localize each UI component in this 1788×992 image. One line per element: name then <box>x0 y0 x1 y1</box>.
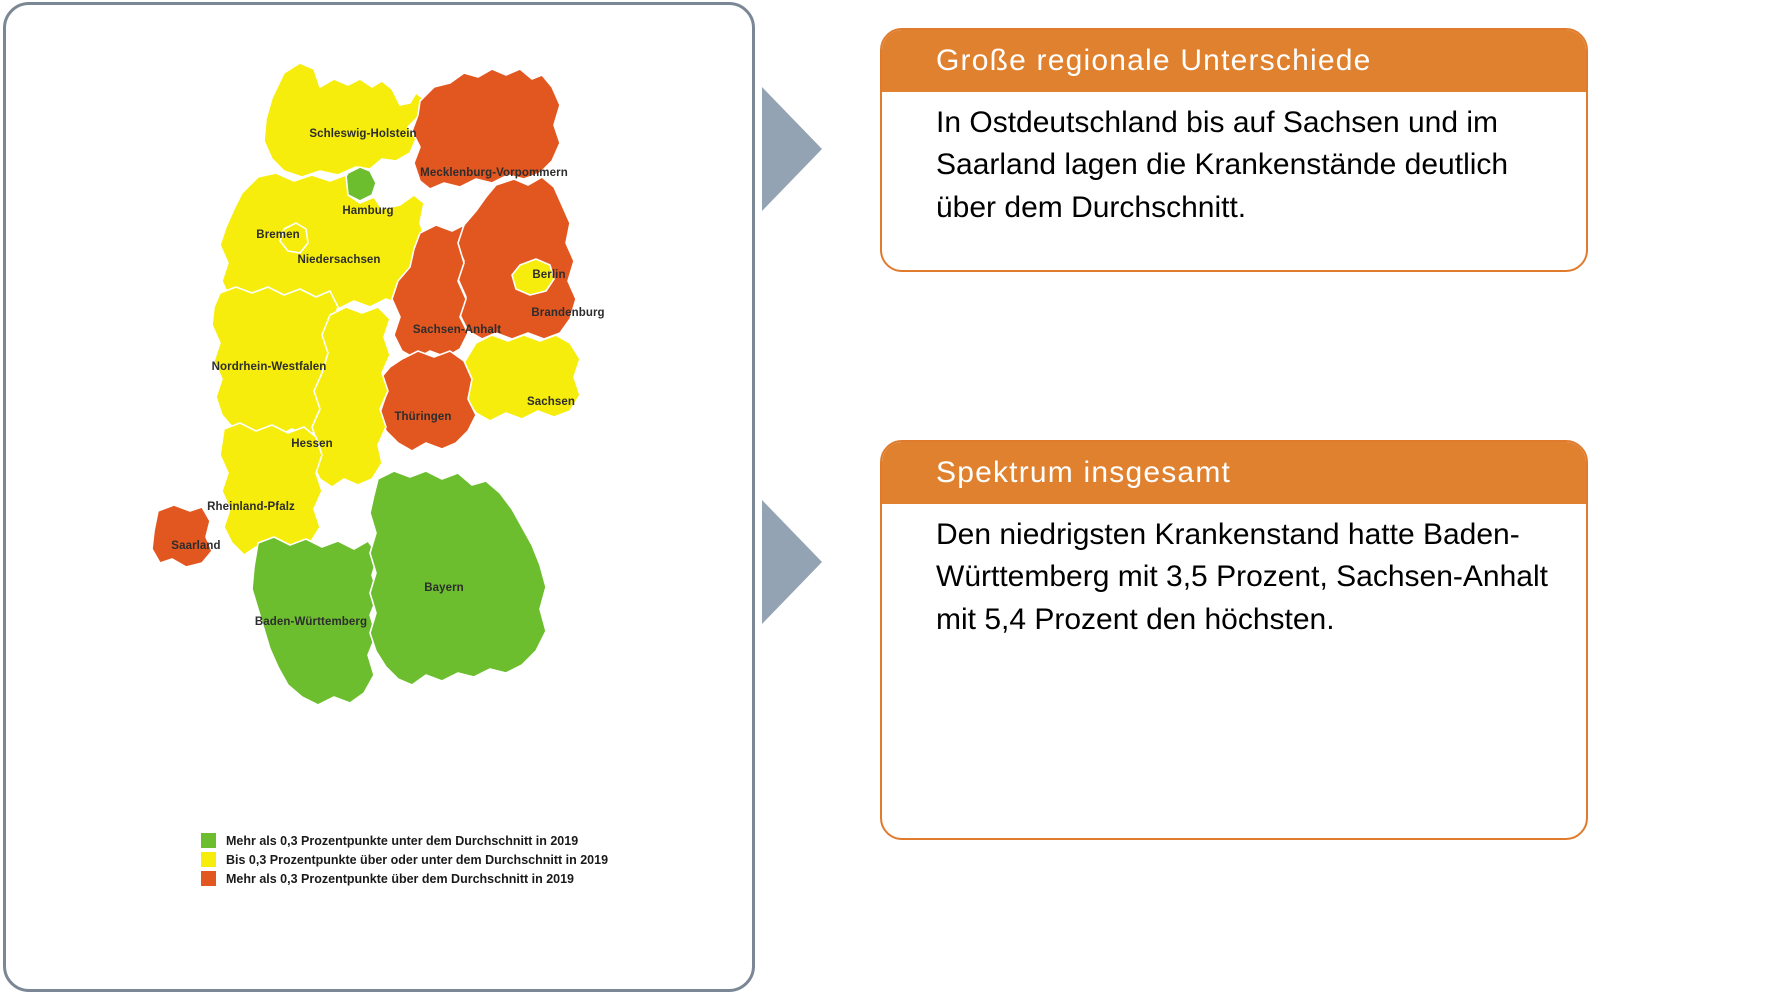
map-stage: Schleswig-Holstein Hamburg Mecklenburg-V… <box>6 5 758 905</box>
legend-item-average: Bis 0,3 Prozentpunkte über oder unter de… <box>6 850 758 869</box>
callout-heading: Spektrum insgesamt <box>882 442 1586 504</box>
region-sachsen[interactable] <box>464 335 580 421</box>
region-brandenburg[interactable] <box>456 177 576 339</box>
germany-choropleth-map[interactable] <box>124 43 664 818</box>
callout-box-regionale-unterschiede: Große regionale Unterschiede In Ostdeuts… <box>880 28 1588 272</box>
region-thueringen[interactable] <box>380 351 476 451</box>
legend-label-below: Mehr als 0,3 Prozentpunkte unter dem Dur… <box>226 834 578 848</box>
legend-label-average: Bis 0,3 Prozentpunkte über oder unter de… <box>226 853 608 867</box>
legend-item-above: Mehr als 0,3 Prozentpunkte über dem Durc… <box>6 869 758 888</box>
map-panel: Schleswig-Holstein Hamburg Mecklenburg-V… <box>3 2 755 992</box>
region-rheinland-pfalz[interactable] <box>220 423 322 555</box>
legend-item-below: Mehr als 0,3 Prozentpunkte unter dem Dur… <box>6 831 758 850</box>
callout-heading: Große regionale Unterschiede <box>882 30 1586 92</box>
callout-body: In Ostdeutschland bis auf Sachsen und im… <box>882 92 1586 248</box>
legend-label-above: Mehr als 0,3 Prozentpunkte über dem Durc… <box>226 872 574 886</box>
region-baden-wuerttemberg[interactable] <box>252 537 378 705</box>
legend-swatch-orange <box>201 871 216 886</box>
map-legend: Mehr als 0,3 Prozentpunkte unter dem Dur… <box>6 831 758 888</box>
arrow-right-icon <box>762 87 822 211</box>
region-bayern[interactable] <box>370 471 546 685</box>
arrow-right-icon <box>762 500 822 624</box>
region-saarland[interactable] <box>152 505 212 567</box>
callout-box-spektrum-insgesamt: Spektrum insgesamt Den niedrigsten Krank… <box>880 440 1588 840</box>
callout-body: Den niedrigsten Krankenstand hatte Baden… <box>882 504 1586 660</box>
region-hessen[interactable] <box>312 307 390 487</box>
legend-swatch-green <box>201 833 216 848</box>
region-mecklenburg-vorpommern[interactable] <box>412 69 560 189</box>
region-schleswig-holstein[interactable] <box>264 63 424 177</box>
legend-swatch-yellow <box>201 852 216 867</box>
